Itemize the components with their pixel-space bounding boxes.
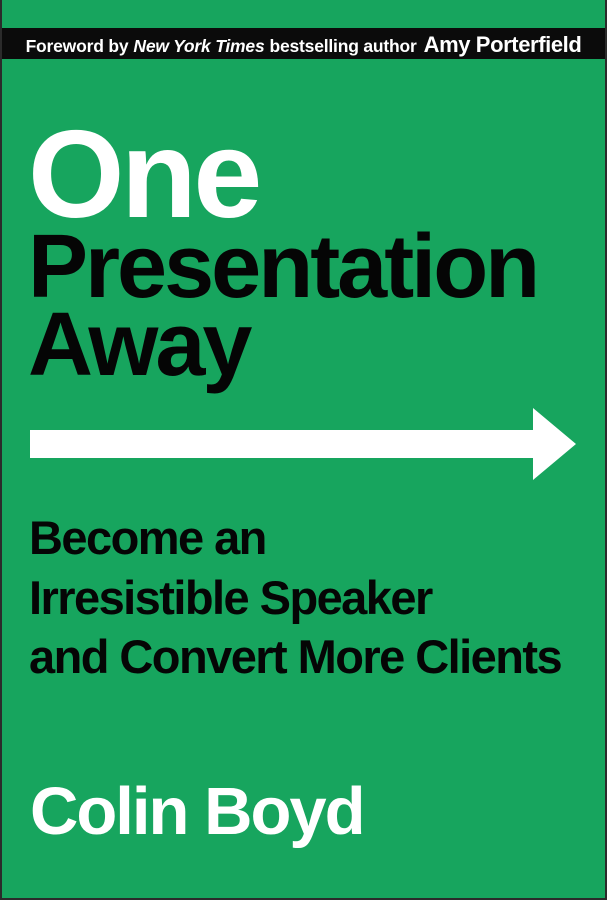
book-cover: Foreword by New York Times bestselling a… bbox=[0, 0, 607, 900]
foreword-author: Amy Porterfield bbox=[424, 32, 582, 58]
title-line-one: One bbox=[28, 122, 581, 229]
foreword-publication: New York Times bbox=[133, 36, 264, 57]
foreword-banner: Foreword by New York Times bestselling a… bbox=[0, 28, 607, 59]
book-subtitle: Become an Irresistible Speaker and Conve… bbox=[29, 508, 585, 687]
foreword-prefix: Foreword by bbox=[26, 36, 129, 57]
subtitle-line-3: and Convert More Clients bbox=[29, 627, 585, 687]
subtitle-line-1: Become an bbox=[29, 508, 585, 568]
book-title: One Presentation Away bbox=[28, 122, 581, 385]
right-arrow-icon bbox=[30, 408, 576, 480]
subtitle-line-2: Irresistible Speaker bbox=[29, 568, 585, 628]
foreword-text: Foreword by New York Times bestselling a… bbox=[26, 32, 582, 58]
title-line-away: Away bbox=[28, 307, 581, 385]
foreword-middle: bestselling author bbox=[269, 36, 416, 57]
author-name: Colin Boyd bbox=[30, 778, 364, 845]
book-author: Colin Boyd bbox=[30, 778, 364, 845]
